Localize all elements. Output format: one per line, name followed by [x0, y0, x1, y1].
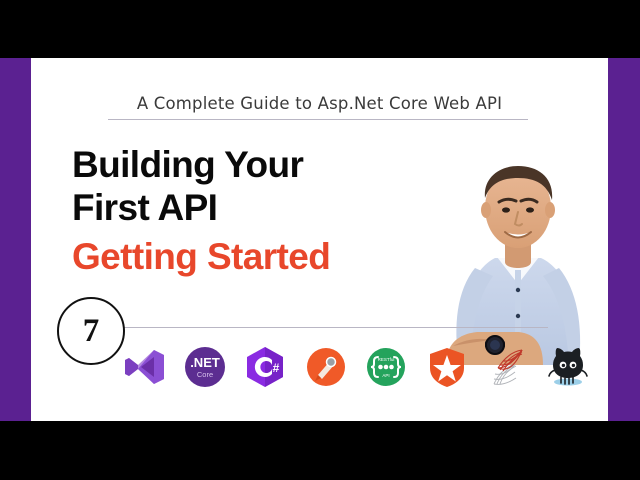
title-line-2: First API: [72, 186, 452, 229]
tech-icon-strip: .NET Core #: [121, 338, 591, 396]
dotnet-primary-label: .NET: [190, 355, 220, 370]
csharp-icon: #: [242, 344, 288, 390]
subtitle: A Complete Guide to Asp.Net Core Web API: [31, 94, 608, 113]
restful-api-icon: RESTful API: [363, 344, 409, 390]
headline-group: Building Your First API Getting Started: [72, 143, 452, 278]
letterbox-bottom: [0, 421, 640, 480]
postman-icon: [303, 344, 349, 390]
episode-badge: 7: [57, 297, 125, 365]
auth0-icon: [424, 344, 470, 390]
purple-band-right: [608, 58, 640, 421]
badge-divider: [123, 327, 548, 328]
episode-number: 7: [83, 315, 100, 348]
restful-top-label: RESTful: [378, 357, 395, 362]
letterbox-top: [0, 0, 640, 58]
title-line-3-accent: Getting Started: [72, 235, 452, 278]
video-thumbnail: A Complete Guide to Asp.Net Core Web API…: [0, 0, 640, 480]
subtitle-divider: [108, 119, 528, 120]
title-line-1: Building Your: [72, 143, 452, 186]
visual-studio-icon: [121, 344, 167, 390]
dotnet-secondary-label: Core: [196, 370, 212, 379]
dotnet-core-icon: .NET Core: [182, 344, 228, 390]
purple-band-left: [0, 58, 31, 421]
github-icon: [545, 344, 591, 390]
sql-server-icon: [484, 344, 530, 390]
csharp-sharp-label: #: [273, 361, 280, 375]
restful-bottom-label: API: [383, 373, 390, 378]
thumbnail-card: A Complete Guide to Asp.Net Core Web API…: [31, 58, 608, 421]
